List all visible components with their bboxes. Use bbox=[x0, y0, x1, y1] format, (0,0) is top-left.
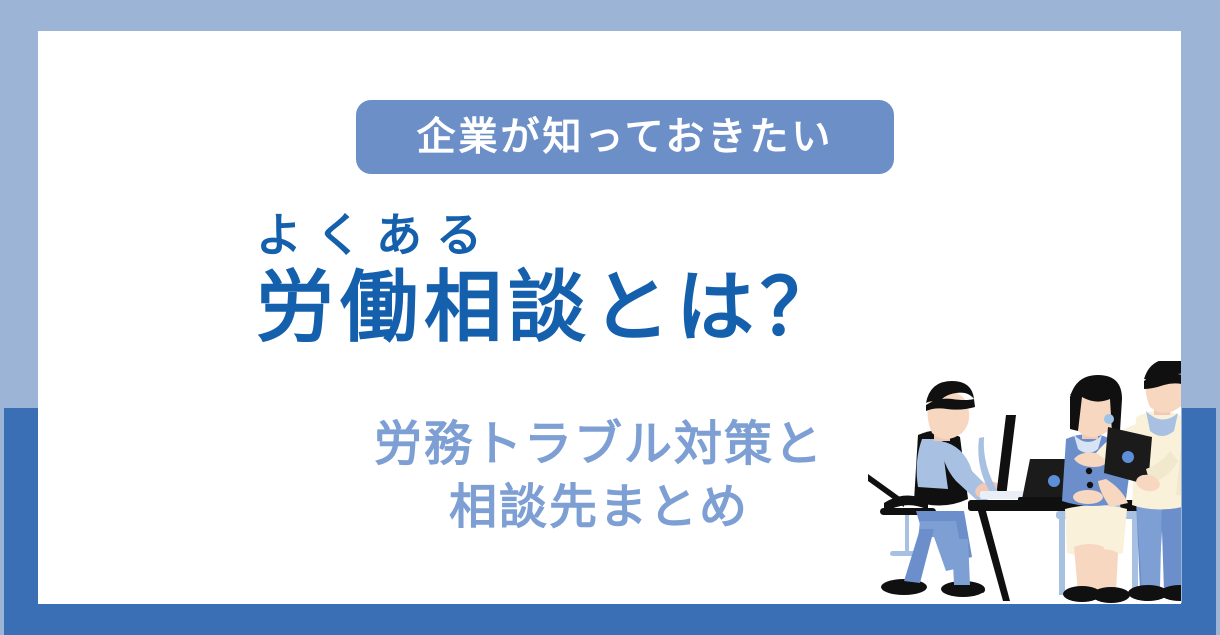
eyebrow-badge: 企業が知っておきたい bbox=[356, 100, 894, 174]
subtitle-block: 労務トラブル対策と 相談先まとめ bbox=[334, 413, 864, 540]
subtitle-line-1: 労務トラブル対策と bbox=[334, 413, 864, 476]
banner-root: 企業が知っておきたい よくある 労働相談とは？ 労務トラブル対策と 相談先まとめ bbox=[0, 0, 1220, 635]
subtitle-line-2: 相談先まとめ bbox=[334, 476, 864, 539]
seated-man-figure bbox=[881, 381, 1002, 597]
headline-kicker: よくある bbox=[256, 209, 956, 262]
eyebrow-badge-label: 企業が知っておきたい bbox=[417, 118, 834, 157]
headline-title: 労働相談とは？ bbox=[256, 264, 956, 351]
frame-accent-bar-bottom bbox=[4, 603, 1216, 635]
headline-block: よくある 労働相談とは？ bbox=[256, 209, 956, 351]
white-content-panel: 企業が知っておきたい よくある 労働相談とは？ 労務トラブル対策と 相談先まとめ bbox=[38, 31, 1181, 604]
seated-woman-figure bbox=[1056, 375, 1140, 603]
office-team-consultation-illustration bbox=[860, 361, 1181, 604]
frame-accent-bar-right bbox=[1182, 408, 1216, 635]
frame-accent-bar-left bbox=[4, 408, 40, 635]
